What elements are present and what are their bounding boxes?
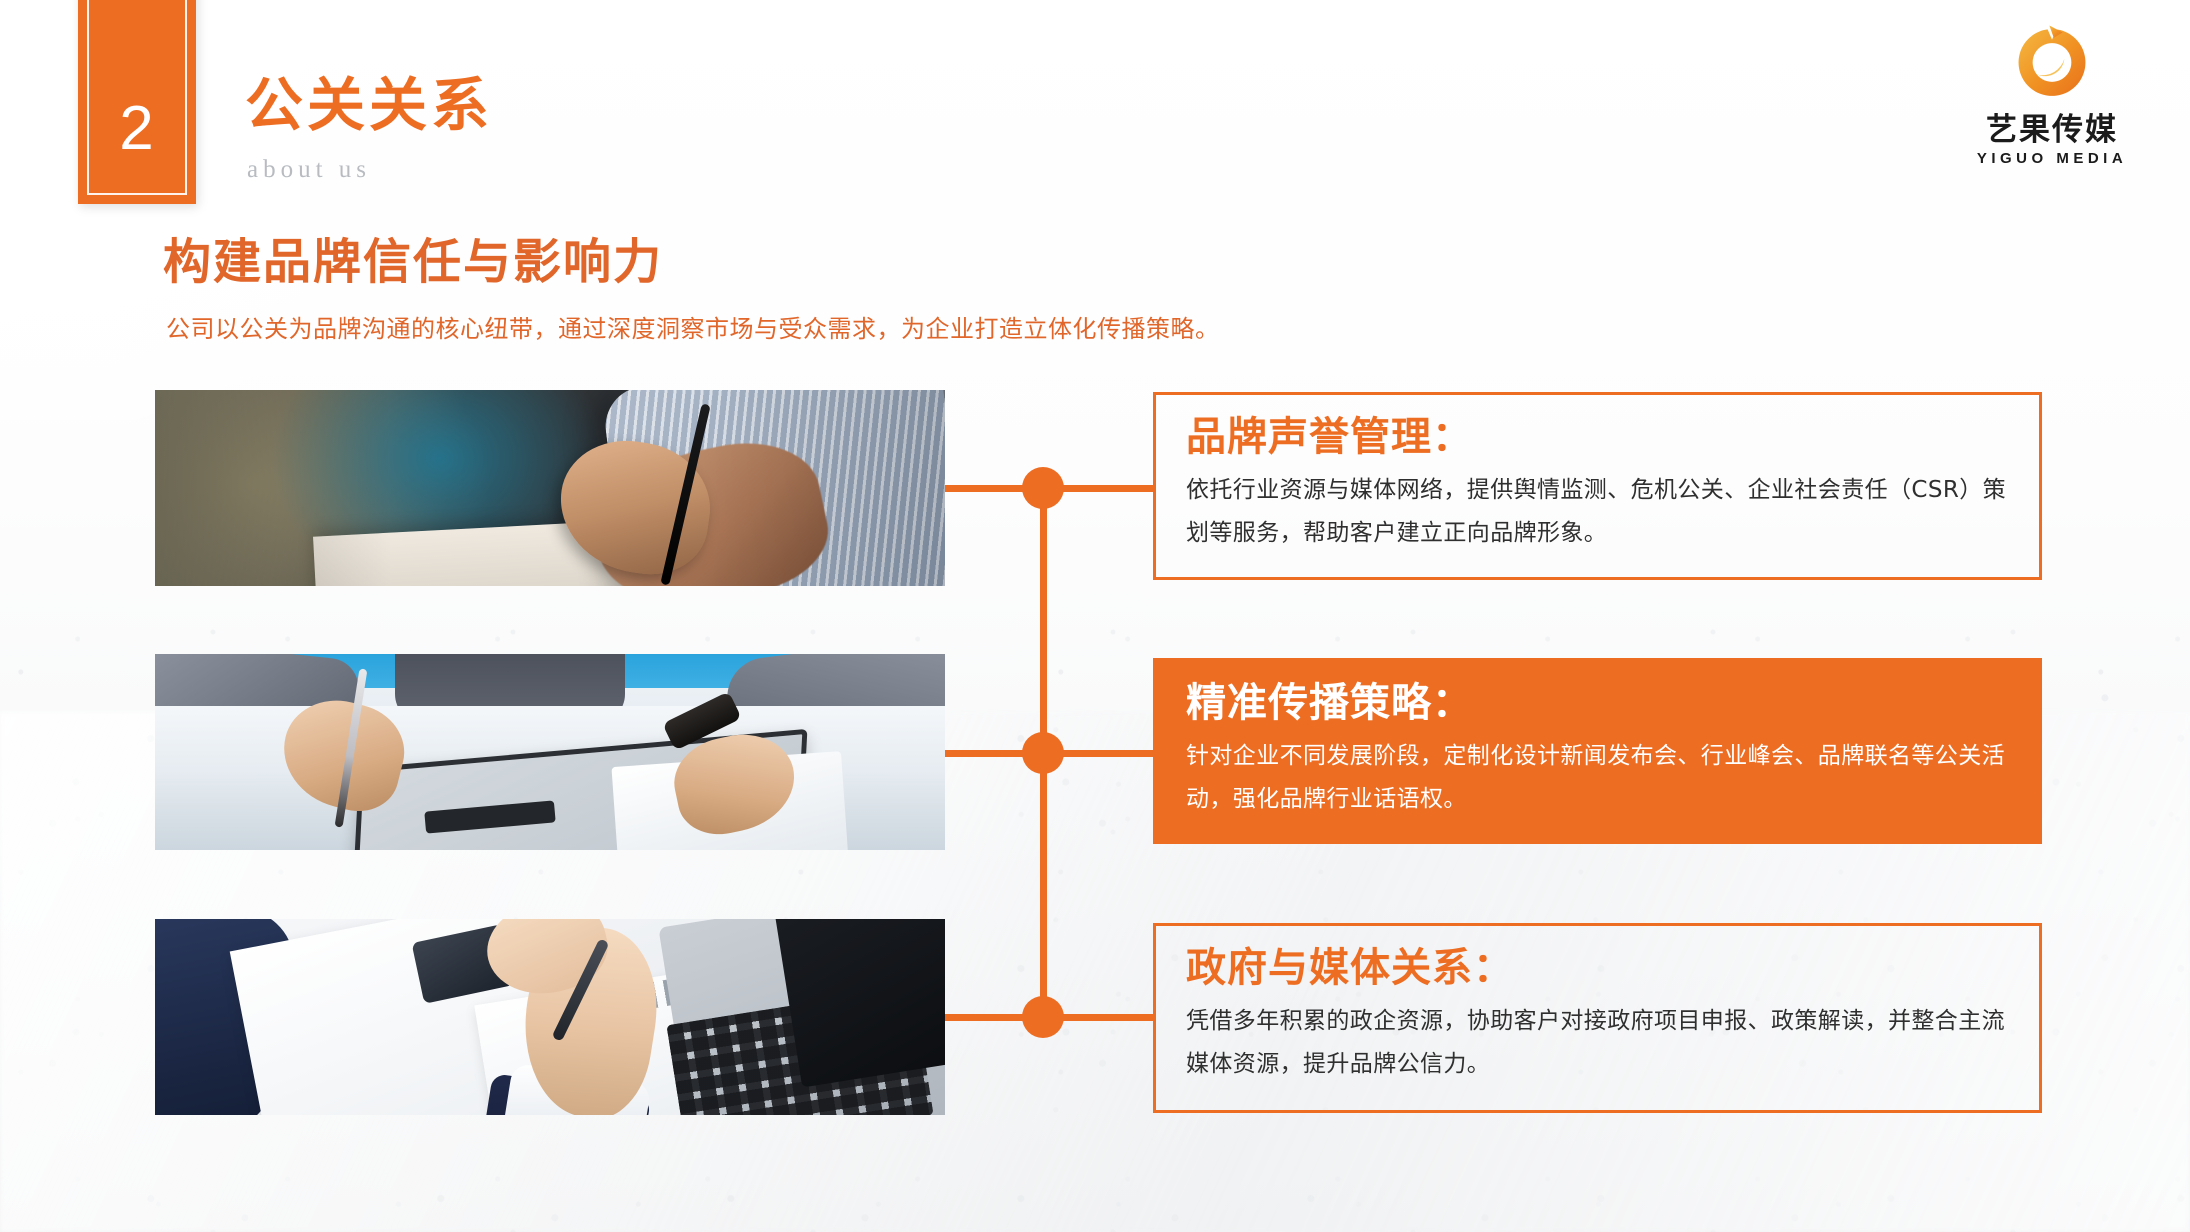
photo3-laptop-screen xyxy=(774,919,945,1088)
ring-fruit-logo-icon xyxy=(2008,22,2096,110)
brand-name: 艺果传媒 xyxy=(1962,114,2142,147)
photo-clipboard-handover xyxy=(155,654,945,850)
photo-notepad-laptop xyxy=(155,919,945,1115)
slide-canvas: 2 公关关系 about us 艺果传媒 YIGUO MEDIA 构建品牌信任与… xyxy=(0,0,2190,1232)
content-card-3: 政府与媒体关系： 凭借多年积累的政企资源，协助客户对接政府项目申报、政策解读，并… xyxy=(1153,923,2042,1113)
section-number: 2 xyxy=(78,93,196,164)
section-number-badge: 2 xyxy=(78,0,196,204)
connector-dot-2 xyxy=(1022,732,1064,774)
section-description: 公司以公关为品牌沟通的核心纽带，通过深度洞察市场与受众需求，为企业打造立体化传播… xyxy=(166,309,1220,344)
card-3-body: 凭借多年积累的政企资源，协助客户对接政府项目申报、政策解读，并整合主流媒体资源，… xyxy=(1186,1000,2011,1085)
section-heading: 构建品牌信任与影响力 xyxy=(163,222,663,292)
photo-writing-hand xyxy=(155,390,945,586)
connector-dot-3 xyxy=(1022,996,1064,1038)
brand-logo: 艺果传媒 YIGUO MEDIA xyxy=(1962,22,2142,167)
card-2-title: 精准传播策略： xyxy=(1186,681,2011,725)
card-1-title: 品牌声誉管理： xyxy=(1186,415,2011,459)
content-card-2: 精准传播策略： 针对企业不同发展阶段，定制化设计新闻发布会、行业峰会、品牌联名等… xyxy=(1153,658,2042,844)
brand-name-latin: YIGUO MEDIA xyxy=(1962,150,2142,167)
card-1-body: 依托行业资源与媒体网络，提供舆情监测、危机公关、企业社会责任（CSR）策划等服务… xyxy=(1186,469,2011,554)
page-title: 公关关系 xyxy=(245,58,493,142)
page-subtitle: about us xyxy=(247,156,371,184)
photo1-vignette xyxy=(155,390,945,586)
card-3-title: 政府与媒体关系： xyxy=(1186,946,2011,990)
connector-dot-1 xyxy=(1022,467,1064,509)
card-2-body: 针对企业不同发展阶段，定制化设计新闻发布会、行业峰会、品牌联名等公关活动，强化品… xyxy=(1186,735,2011,820)
content-card-1: 品牌声誉管理： 依托行业资源与媒体网络，提供舆情监测、危机公关、企业社会责任（C… xyxy=(1153,392,2042,580)
